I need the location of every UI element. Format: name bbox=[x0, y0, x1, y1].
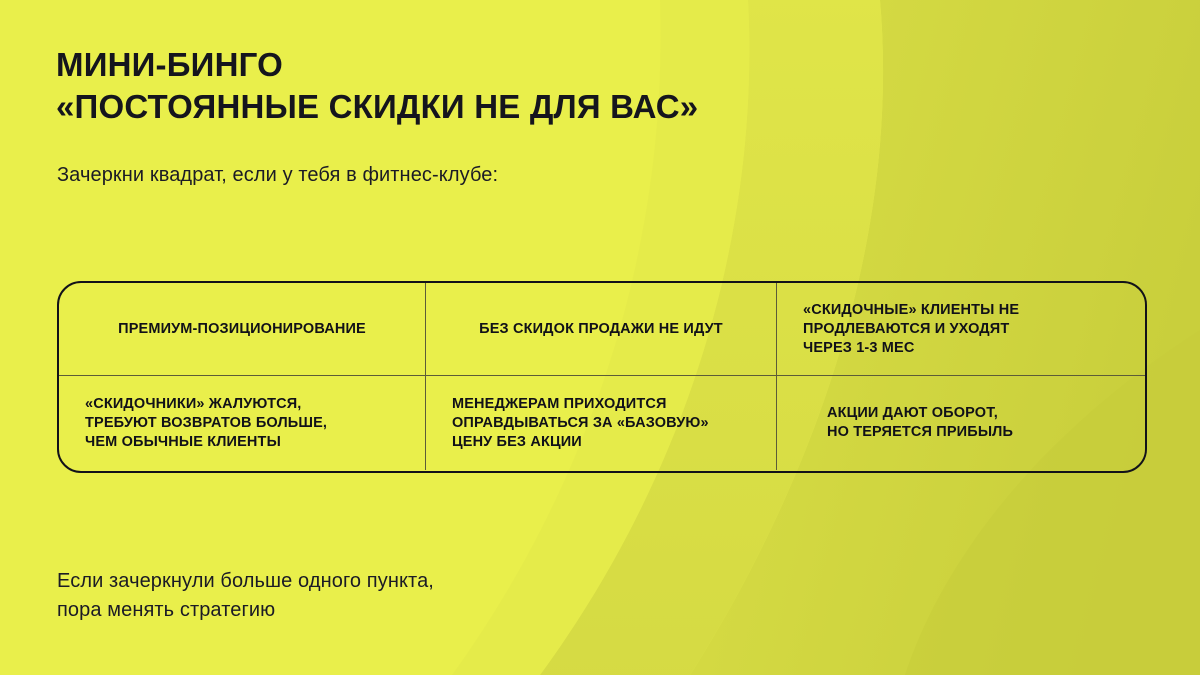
slide-canvas: МИНИ-БИНГО «ПОСТОЯННЫЕ СКИДКИ НЕ ДЛЯ ВАС… bbox=[0, 0, 1200, 675]
bingo-cell-label: БЕЗ СКИДОК ПРОДАЖИ НЕ ИДУТ bbox=[440, 320, 762, 339]
title-line-1: МИНИ-БИНГО bbox=[56, 44, 1056, 86]
bingo-cell-label: «СКИДОЧНЫЕ» КЛИЕНТЫ НЕ ПРОДЛЕВАЮТСЯ И УХ… bbox=[791, 301, 1131, 358]
bingo-cell-r1c0[interactable]: «СКИДОЧНИКИ» ЖАЛУЮТСЯ, ТРЕБУЮТ ВОЗВРАТОВ… bbox=[59, 376, 425, 470]
bingo-cell-label: ПРЕМИУМ-ПОЗИЦИОНИРОВАНИЕ bbox=[73, 320, 411, 339]
subtitle-instruction: Зачеркни квадрат, если у тебя в фитнес-к… bbox=[57, 164, 498, 187]
bingo-cell-r1c2[interactable]: АКЦИИ ДАЮТ ОБОРОТ, НО ТЕРЯЕТСЯ ПРИБЫЛЬ bbox=[776, 376, 1145, 470]
bingo-cell-label: МЕНЕДЖЕРАМ ПРИХОДИТСЯ ОПРАВДЫВАТЬСЯ ЗА «… bbox=[440, 395, 762, 452]
table-row: «СКИДОЧНИКИ» ЖАЛУЮТСЯ, ТРЕБУЮТ ВОЗВРАТОВ… bbox=[59, 375, 1145, 470]
bingo-cell-label: «СКИДОЧНИКИ» ЖАЛУЮТСЯ, ТРЕБУЮТ ВОЗВРАТОВ… bbox=[73, 395, 411, 452]
bingo-table: ПРЕМИУМ-ПОЗИЦИОНИРОВАНИЕ БЕЗ СКИДОК ПРОД… bbox=[57, 281, 1147, 473]
bingo-cell-r1c1[interactable]: МЕНЕДЖЕРАМ ПРИХОДИТСЯ ОПРАВДЫВАТЬСЯ ЗА «… bbox=[425, 376, 776, 470]
bingo-cell-r0c2[interactable]: «СКИДОЧНЫЕ» КЛИЕНТЫ НЕ ПРОДЛЕВАЮТСЯ И УХ… bbox=[776, 283, 1145, 375]
footer-note: Если зачеркнули больше одного пункта, по… bbox=[57, 567, 434, 625]
table-row: ПРЕМИУМ-ПОЗИЦИОНИРОВАНИЕ БЕЗ СКИДОК ПРОД… bbox=[59, 283, 1145, 375]
bingo-cell-r0c1[interactable]: БЕЗ СКИДОК ПРОДАЖИ НЕ ИДУТ bbox=[425, 283, 776, 375]
bingo-cell-r0c0[interactable]: ПРЕМИУМ-ПОЗИЦИОНИРОВАНИЕ bbox=[59, 283, 425, 375]
bingo-cell-label: АКЦИИ ДАЮТ ОБОРОТ, НО ТЕРЯЕТСЯ ПРИБЫЛЬ bbox=[791, 404, 1131, 442]
page-title: МИНИ-БИНГО «ПОСТОЯННЫЕ СКИДКИ НЕ ДЛЯ ВАС… bbox=[56, 44, 1056, 128]
title-line-2: «ПОСТОЯННЫЕ СКИДКИ НЕ ДЛЯ ВАС» bbox=[56, 86, 1056, 128]
